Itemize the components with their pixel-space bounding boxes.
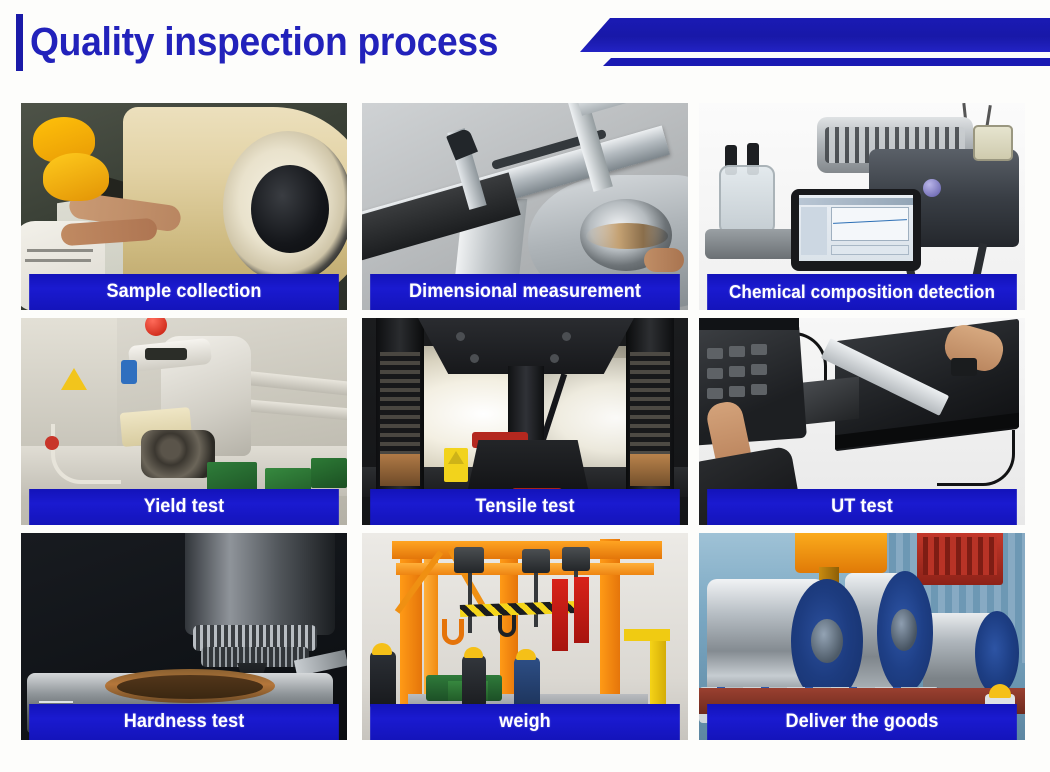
header-banner-underline [603,58,1050,66]
tile-caption: Sample collection [29,274,339,310]
process-tile-sample-collection[interactable]: Sample collection [21,103,347,310]
tile-caption: Yield test [29,489,339,525]
tile-caption: Tensile test [370,489,680,525]
process-tile-hardness-test[interactable]: Hardness test [21,533,347,740]
tile-caption: Dimensional measurement [370,274,680,310]
tile-caption: weigh [370,704,680,740]
tile-caption: Deliver the goods [707,704,1017,740]
process-tile-deliver-the-goods[interactable]: Deliver the goods [699,533,1025,740]
page-title: Quality inspection process [30,12,498,72]
page-header: Quality inspection process [0,0,1050,92]
tile-caption: UT test [707,489,1017,525]
tile-caption: Hardness test [29,704,339,740]
process-tile-dimensional-measurement[interactable]: Dimensional measurement [362,103,688,310]
process-grid: Sample collection Dimensional measuremen… [0,96,1050,756]
process-tile-ut-test[interactable]: UT test [699,318,1025,525]
header-banner-shape [580,18,1050,52]
process-tile-weigh[interactable]: weigh [362,533,688,740]
title-accent-bar [16,14,23,71]
process-tile-tensile-test[interactable]: Tensile test [362,318,688,525]
tile-caption: Chemical composition detection [707,274,1017,310]
process-tile-chemical-composition-detection[interactable]: Chemical composition detection [699,103,1025,310]
process-tile-yield-test[interactable]: Yield test [21,318,347,525]
